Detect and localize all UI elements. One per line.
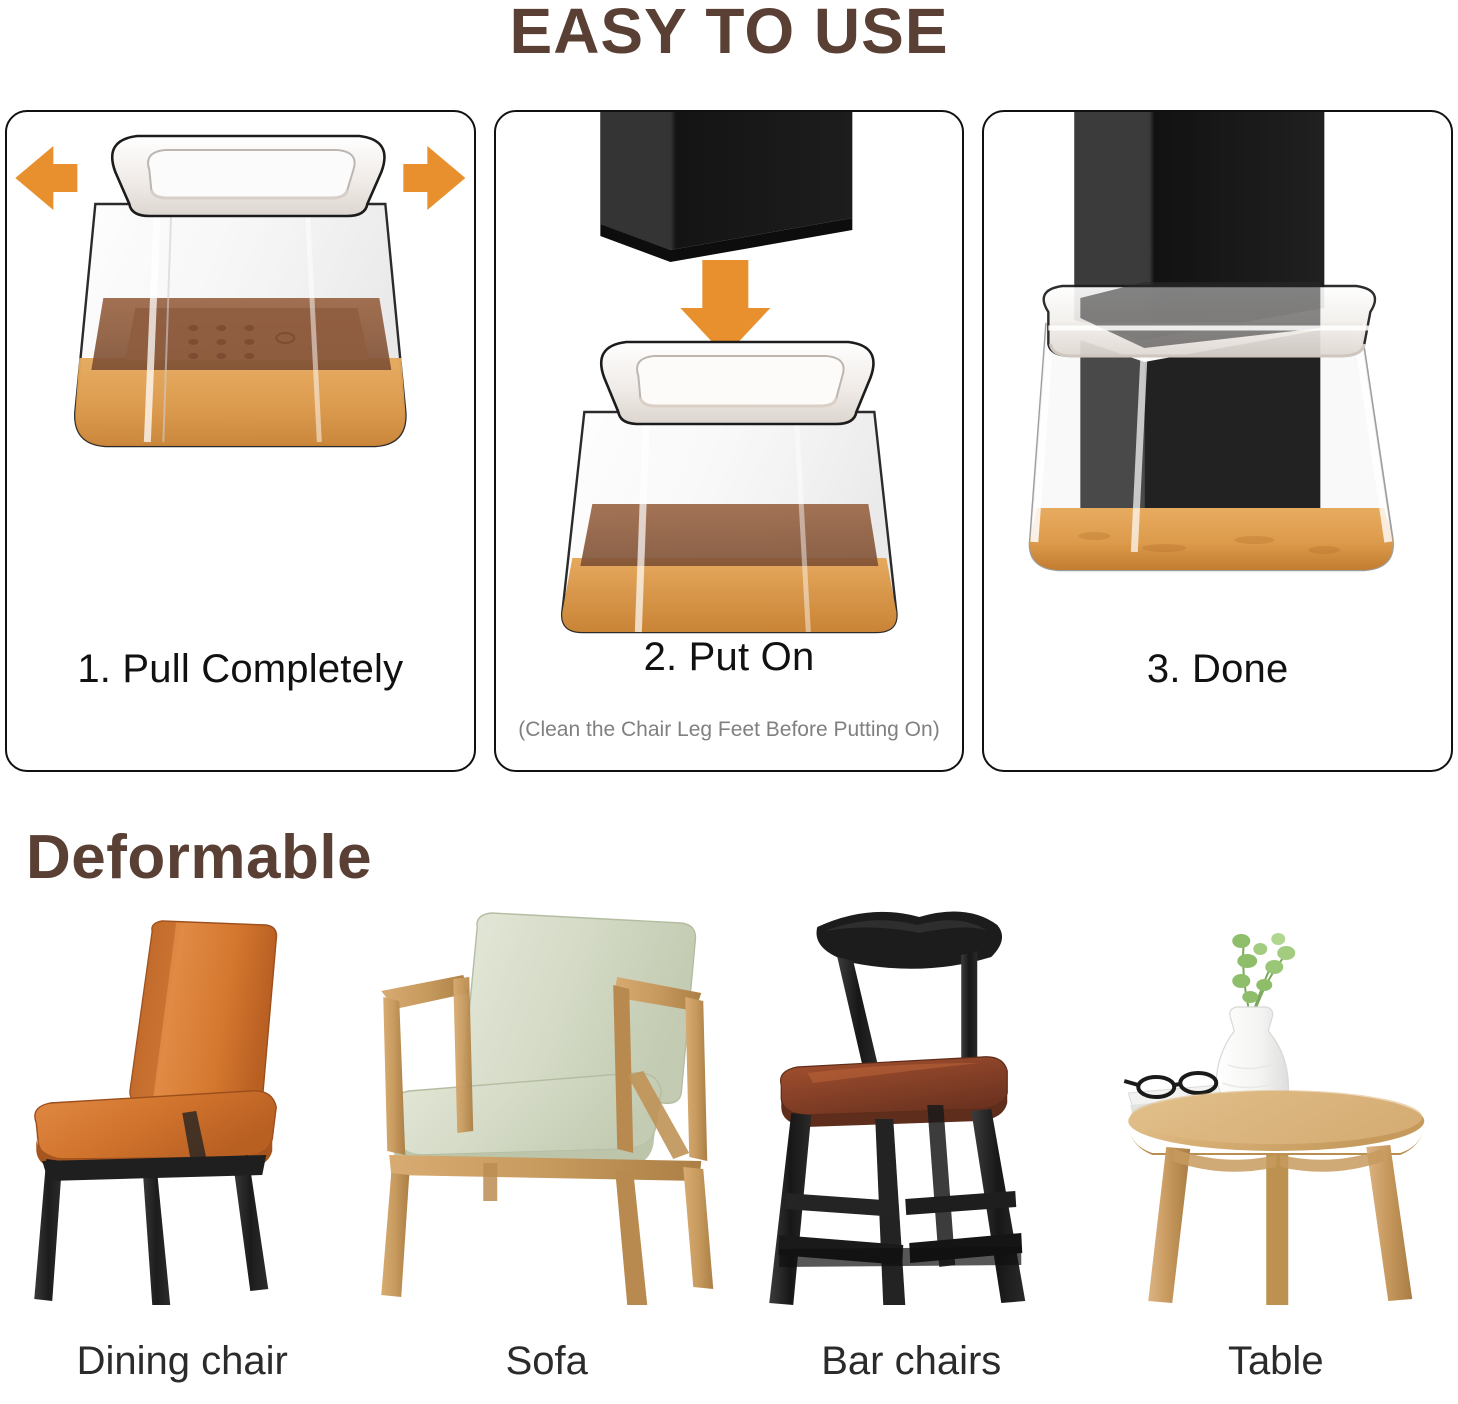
page-title: EASY TO USE <box>0 0 1458 65</box>
step-2-subcaption: (Clean the Chair Leg Feet Before Putting… <box>496 718 963 742</box>
steps-row: 1. Pull Completely <box>5 110 1453 772</box>
step-panel-1: 1. Pull Completely <box>5 110 476 772</box>
furniture-item-sofa: Sofa <box>365 905 730 1404</box>
furniture-label-dining-chair: Dining chair <box>0 1339 365 1384</box>
furniture-item-dining-chair: Dining chair <box>0 905 365 1404</box>
step-3-illustration <box>984 112 1451 632</box>
bar-stool-illustration <box>729 905 1094 1305</box>
arrow-left-icon <box>15 146 77 210</box>
table-leg <box>1366 1145 1412 1301</box>
furniture-leg <box>600 110 852 262</box>
step-1-caption: 1. Pull Completely <box>7 647 474 692</box>
dining-chair-illustration <box>0 905 365 1305</box>
step-panel-2: 2. Put On (Clean the Chair Leg Feet Befo… <box>494 110 965 772</box>
chair-leg <box>142 1163 170 1305</box>
infographic-page: EASY TO USE <box>0 0 1458 1404</box>
arrow-right-icon <box>403 146 465 210</box>
sofa-leg <box>381 1173 409 1297</box>
sofa-leg <box>683 1167 713 1289</box>
furniture-row: Dining chair <box>0 905 1458 1404</box>
furniture-leg-inside-cap <box>1081 330 1321 536</box>
sofa-leg <box>615 1171 647 1305</box>
step-2-illustration <box>496 112 963 632</box>
table-leg <box>1148 1147 1190 1303</box>
furniture-label-bar-chairs: Bar chairs <box>729 1339 1094 1384</box>
furniture-item-bar-chairs: Bar chairs <box>729 905 1094 1404</box>
side-table-illustration <box>1094 905 1458 1305</box>
furniture-label-sofa: Sofa <box>365 1339 730 1384</box>
step-1-illustration <box>7 112 474 632</box>
section-title-deformable: Deformable <box>26 822 372 893</box>
step-3-caption: 3. Done <box>984 647 1451 692</box>
table-leg <box>1266 1153 1288 1305</box>
step-panel-3: 3. Done <box>982 110 1453 772</box>
plant-leaves <box>1232 933 1295 1003</box>
furniture-label-table: Table <box>1094 1339 1458 1384</box>
step-2-caption: 2. Put On <box>496 635 963 680</box>
sofa-illustration <box>365 905 730 1305</box>
furniture-item-table: Table <box>1094 905 1458 1404</box>
